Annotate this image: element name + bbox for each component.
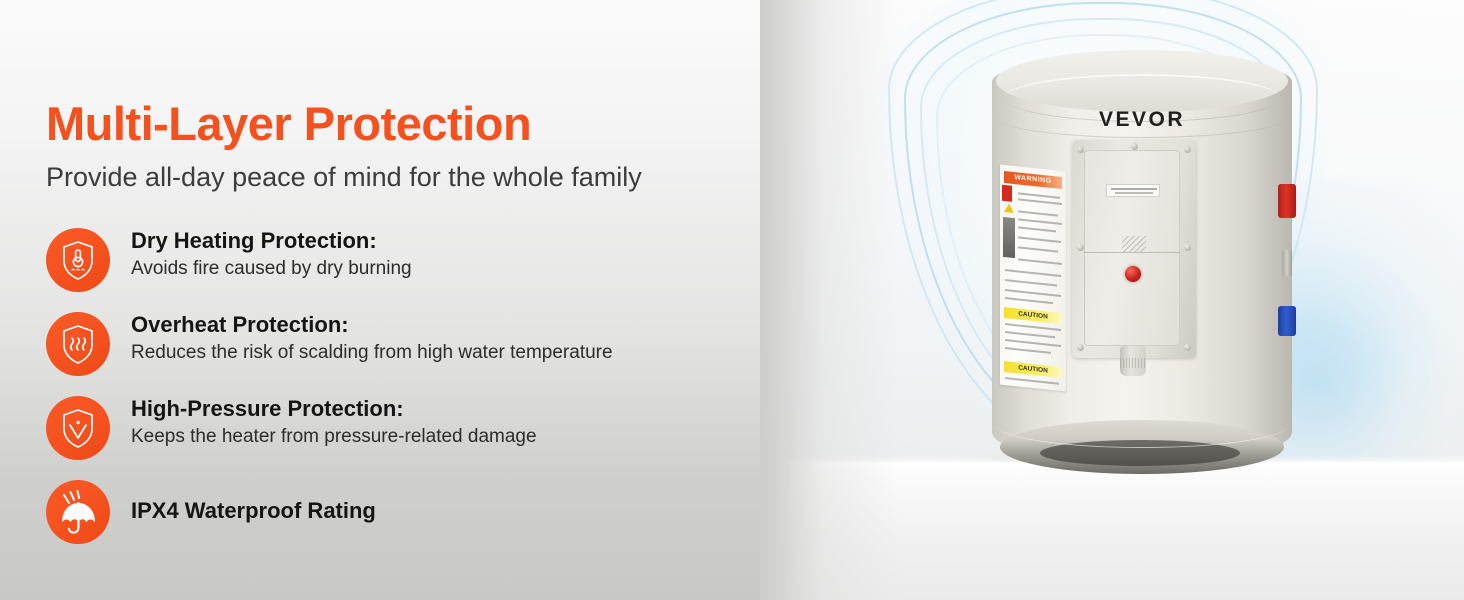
shield-pressure-icon bbox=[46, 396, 110, 460]
headline: Multi-Layer Protection bbox=[46, 96, 531, 151]
feature-title: Overheat Protection: bbox=[131, 312, 613, 338]
caution-label-upper: CAUTION bbox=[1004, 307, 1062, 324]
brand-logo-text: VEVOR bbox=[992, 108, 1292, 132]
shield-thermometer-icon bbox=[46, 228, 110, 292]
label-textline bbox=[1005, 377, 1059, 385]
panel-screw bbox=[1131, 143, 1138, 150]
product-feature-banner: VEVOR WARNING CAUTION bbox=[0, 0, 1464, 600]
stage-left-fade bbox=[760, 0, 900, 600]
feature-list: Dry Heating Protection: Avoids fire caus… bbox=[46, 228, 746, 480]
feature-text: Overheat Protection: Reduces the risk of… bbox=[131, 312, 613, 364]
feature-item-dry-heating: Dry Heating Protection: Avoids fire caus… bbox=[46, 228, 746, 312]
feature-text: Dry Heating Protection: Avoids fire caus… bbox=[131, 228, 412, 280]
cable-gland-threads bbox=[1120, 358, 1146, 368]
feature-description: Avoids fire caused by dry burning bbox=[131, 258, 412, 280]
label-textline bbox=[1018, 258, 1062, 265]
safety-label-stack: WARNING CAUTION bbox=[1000, 165, 1066, 392]
feature-item-high-pressure: High-Pressure Protection: Keeps the heat… bbox=[46, 396, 746, 480]
side-fitting bbox=[1282, 250, 1292, 276]
label-textline bbox=[1018, 192, 1060, 198]
label-textline bbox=[1018, 198, 1062, 205]
label-textline bbox=[1005, 347, 1051, 354]
water-heater-product: VEVOR WARNING CAUTION bbox=[992, 44, 1292, 474]
label-textline bbox=[1005, 331, 1055, 338]
tank-bottom-lip bbox=[996, 402, 1288, 448]
label-textline bbox=[1005, 339, 1061, 347]
banner-content: Multi-Layer Protection Provide all-day p… bbox=[0, 0, 760, 600]
label-textline bbox=[1018, 218, 1062, 225]
warning-triangle-icon bbox=[1004, 203, 1014, 213]
panel-vent-marking bbox=[1122, 236, 1146, 252]
label-textline bbox=[1018, 210, 1058, 216]
sticker-textline bbox=[1115, 192, 1153, 194]
panel-screw bbox=[1077, 244, 1084, 251]
warning-label-header: WARNING bbox=[1004, 171, 1062, 189]
feature-item-overheat: Overheat Protection: Reduces the risk of… bbox=[46, 312, 746, 396]
feature-title: IPX4 Waterproof Rating bbox=[131, 498, 376, 524]
panel-screw bbox=[1077, 146, 1084, 153]
access-panel bbox=[1072, 140, 1196, 358]
label-textline bbox=[1005, 289, 1061, 297]
cold-water-port bbox=[1278, 306, 1296, 336]
label-textline bbox=[1018, 236, 1061, 243]
label-textline bbox=[1005, 279, 1057, 286]
label-textline bbox=[1018, 226, 1056, 232]
label-textline bbox=[1005, 323, 1061, 331]
feature-title: Dry Heating Protection: bbox=[131, 228, 412, 254]
label-textline bbox=[1005, 297, 1053, 304]
label-textline bbox=[1018, 246, 1058, 252]
panel-screw bbox=[1184, 146, 1191, 153]
sticker-textline bbox=[1111, 188, 1157, 190]
panel-rating-sticker bbox=[1106, 184, 1160, 197]
shield-heatwave-icon bbox=[46, 312, 110, 376]
hot-water-port bbox=[1278, 184, 1296, 218]
feature-description: Keeps the heater from pressure-related d… bbox=[131, 426, 537, 448]
umbrella-rain-icon bbox=[46, 480, 110, 544]
power-indicator-light bbox=[1125, 266, 1141, 282]
panel-screw bbox=[1077, 344, 1084, 351]
panel-screw bbox=[1184, 244, 1191, 251]
feature-text: High-Pressure Protection: Keeps the heat… bbox=[131, 396, 537, 448]
label-textline bbox=[1005, 269, 1061, 277]
warning-red-block bbox=[1002, 185, 1012, 202]
panel-screw bbox=[1184, 344, 1191, 351]
access-panel-seam bbox=[1084, 252, 1180, 253]
feature-description: Reduces the risk of scalding from high w… bbox=[131, 342, 613, 364]
caution-label-lower: CAUTION bbox=[1004, 361, 1062, 378]
feature-title: High-Pressure Protection: bbox=[131, 396, 537, 422]
subheadline: Provide all-day peace of mind for the wh… bbox=[46, 162, 642, 193]
product-stage: VEVOR WARNING CAUTION bbox=[760, 0, 1464, 600]
feature-text: IPX4 Waterproof Rating bbox=[131, 498, 376, 524]
warning-pictogram bbox=[1003, 217, 1015, 258]
